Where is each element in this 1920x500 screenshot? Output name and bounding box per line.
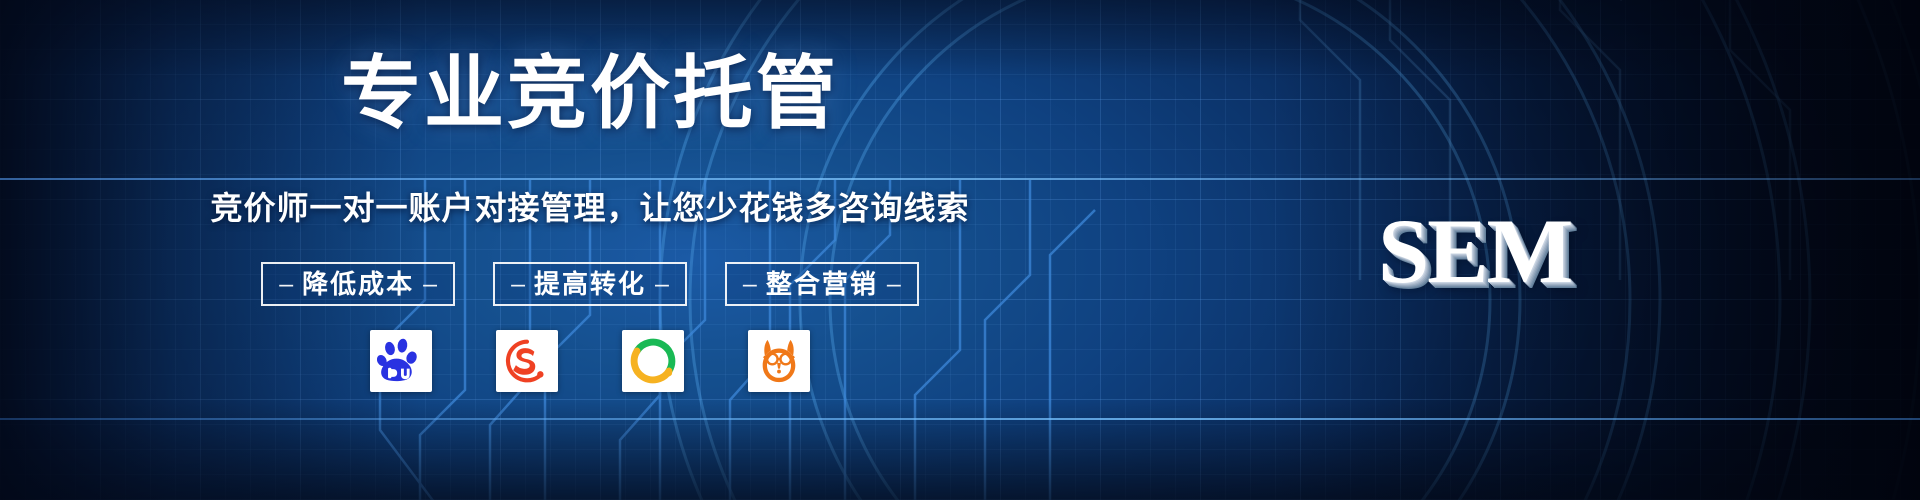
tag-dash-left-icon: – (279, 272, 293, 297)
banner-content: 专业竞价托管 竞价师一对一账户对接管理，让您少花钱多咨询线索 – 降低成本 – … (0, 0, 1180, 500)
sogou-logo-icon (504, 338, 550, 384)
tag-dash-right-icon: – (423, 272, 437, 297)
sem-wordmark: SEM (1378, 200, 1571, 302)
banner-subtitle: 竞价师一对一账户对接管理，让您少花钱多咨询线索 (0, 192, 1180, 224)
feature-tag-conversion[interactable]: – 提高转化 – (493, 262, 687, 306)
banner-title: 专业竞价托管 (0, 54, 1180, 134)
tag-dash-right-icon: – (655, 272, 669, 297)
shenma-logo-icon (755, 337, 803, 385)
feature-tag-integrated-marketing[interactable]: – 整合营销 – (725, 262, 919, 306)
sem-wordmark-container: SEM (1378, 205, 1638, 297)
feature-tag-label: 降低成本 (302, 271, 414, 297)
tag-dash-left-icon: – (511, 272, 525, 297)
partner-logo-shenma[interactable] (748, 330, 810, 392)
tag-dash-right-icon: – (887, 272, 901, 297)
sem-promo-banner: 专业竞价托管 竞价师一对一账户对接管理，让您少花钱多咨询线索 – 降低成本 – … (0, 0, 1920, 500)
tag-dash-left-icon: – (743, 272, 757, 297)
feature-tag-label: 提高转化 (534, 271, 646, 297)
feature-tag-list: – 降低成本 – – 提高转化 – – 整合营销 – (0, 262, 1180, 306)
baidu-logo-icon (377, 337, 425, 385)
so360-logo-icon (630, 338, 676, 384)
partner-logo-360-search[interactable] (622, 330, 684, 392)
feature-tag-cost-reduction[interactable]: – 降低成本 – (261, 262, 455, 306)
feature-tag-label: 整合营销 (766, 271, 878, 297)
partner-logo-baidu[interactable] (370, 330, 432, 392)
partner-logo-sogou[interactable] (496, 330, 558, 392)
partner-logo-list (0, 330, 1180, 392)
